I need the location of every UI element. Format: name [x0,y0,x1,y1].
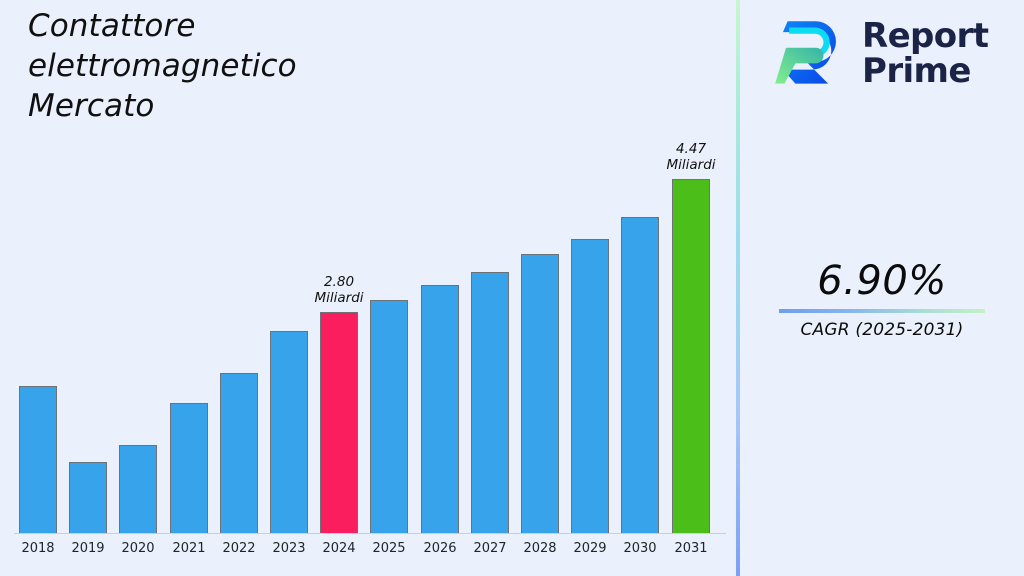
bar-chart-plot-area: 2.80 Miliardi4.47 Miliardi [0,0,738,576]
brand-name: Report Prime [862,19,988,89]
chart-page: Contattore elettromagnetico Mercato 2.80… [0,0,1024,576]
x-tick-2030: 2030 [615,541,665,556]
bar-2027 [471,272,509,534]
bar-2020 [119,445,157,534]
cagr-divider-rule [779,309,985,313]
x-tick-2029: 2029 [565,541,615,556]
brand-logo: Report Prime [772,10,1002,98]
x-tick-2024: 2024 [314,541,364,556]
x-tick-2021: 2021 [164,541,214,556]
x-axis-line [14,533,726,534]
chart-panel: Contattore elettromagnetico Mercato 2.80… [0,0,738,576]
bar-2023 [270,331,308,534]
bar-2029 [571,239,609,534]
brand-panel: Report Prime 6.90% CAGR (2025-2031) [740,0,1024,576]
bar-2022 [220,373,258,534]
cagr-block: 6.90% CAGR (2025-2031) [756,258,1008,341]
x-tick-2020: 2020 [113,541,163,556]
bar-value-label-2031: 4.47 Miliardi [636,141,746,173]
bar-2025 [370,300,408,534]
bar-2030 [621,217,659,534]
bar-2024 [320,312,358,534]
x-tick-2031: 2031 [666,541,716,556]
bar-2021 [170,403,208,534]
x-tick-2027: 2027 [465,541,515,556]
cagr-value: 6.90% [756,258,1008,304]
cagr-caption: CAGR (2025-2031) [756,319,1008,341]
x-tick-2019: 2019 [63,541,113,556]
x-tick-2022: 2022 [214,541,264,556]
x-tick-2023: 2023 [264,541,314,556]
bar-2019 [69,462,107,534]
x-tick-2025: 2025 [364,541,414,556]
x-tick-2018: 2018 [13,541,63,556]
bar-2018 [19,386,57,534]
report-prime-logo-icon [772,15,850,93]
x-tick-2028: 2028 [515,541,565,556]
x-tick-2026: 2026 [415,541,465,556]
bar-2031 [672,179,710,534]
bar-2028 [521,254,559,534]
bar-2026 [421,285,459,534]
